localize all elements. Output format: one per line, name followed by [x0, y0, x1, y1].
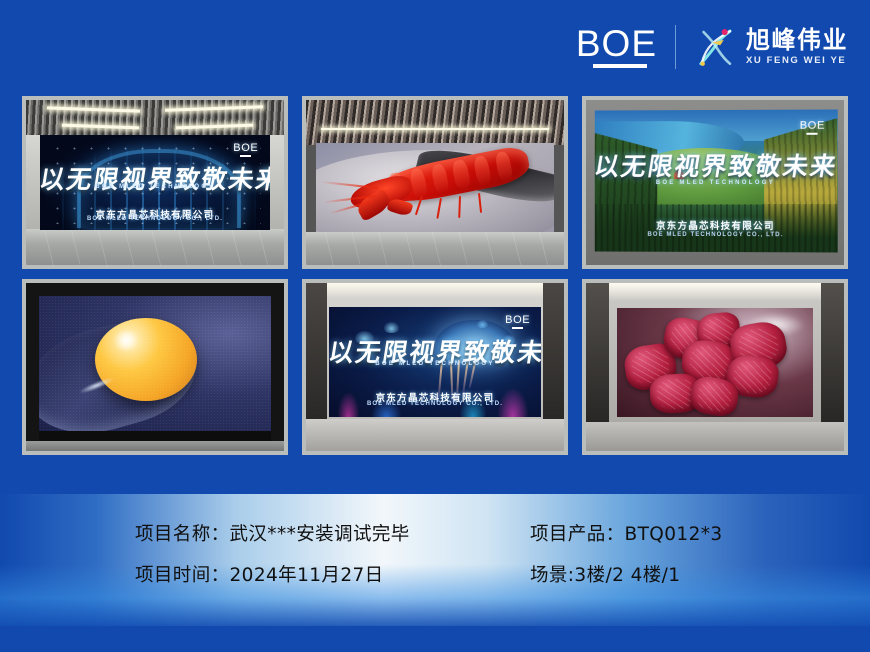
scene-row: 场景:3楼/2 4楼/1: [522, 561, 870, 587]
monitor-bezel: [39, 431, 271, 441]
partner-name-cn: 旭峰伟业: [746, 28, 848, 53]
ceiling-light-strip: [321, 128, 548, 130]
logo-divider: [675, 25, 676, 69]
photo-3-scene: BOE 以无限视界致敬未来 BOE MLED TECHNOLOGY 京东方晶芯科…: [586, 100, 844, 265]
photo-6-meat-led-wall[interactable]: [582, 279, 848, 455]
lobster-leg: [458, 196, 461, 218]
project-product-row: 项目产品：BTQ012*3: [522, 520, 870, 546]
project-name-row: 项目名称：武汉***安装调试完毕: [0, 520, 522, 546]
xufengweiye-mark-icon: [693, 25, 737, 69]
screen-slogan-en: BOE MLED TECHNOLOGY: [40, 184, 270, 190]
spoon-shape: [39, 304, 208, 431]
photo-2-scene: [306, 100, 564, 265]
photo-2-lobster-led-wall[interactable]: [302, 96, 568, 269]
photo-5-jellyfish-led-wall[interactable]: BOE 以无限视界致敬未来 BOE MLED TECHNOLOGY 京东方晶芯科…: [302, 279, 568, 455]
small-jellyfish: [384, 322, 399, 333]
led-screen-1: BOE 以无限视界致敬未来 BOE MLED TECHNOLOGY 京东方晶芯科…: [40, 135, 270, 229]
photo-4-yolk-monitor[interactable]: [22, 279, 288, 455]
room-floor: [306, 419, 564, 451]
poster-canvas: BOE 旭峰伟业 XU FENG WEI YE: [0, 0, 870, 652]
slatted-ceiling: [306, 100, 564, 145]
photo-1-scene: BOE 以无限视界致敬未来 BOE MLED TECHNOLOGY 京东方晶芯科…: [26, 100, 284, 265]
project-info-grid: 项目名称：武汉***安装调试完毕 项目产品：BTQ012*3 项目时间：2024…: [0, 494, 870, 594]
screen-slogan-cn: 以无限视界致敬未来: [40, 160, 270, 196]
led-screen-6: [617, 308, 813, 417]
boe-logo-wordmark: BOE: [576, 26, 657, 62]
photo-1-corridor-led-wall[interactable]: BOE 以无限视界致敬未来 BOE MLED TECHNOLOGY 京东方晶芯科…: [22, 96, 288, 269]
screen-slogan-en: BOE MLED TECHNOLOGY: [329, 361, 541, 367]
right-wall: [269, 135, 284, 234]
photo-5-scene: BOE 以无限视界致敬未来 BOE MLED TECHNOLOGY 京东方晶芯科…: [306, 283, 564, 451]
spoon-shine: [78, 376, 115, 396]
screen-company-cn: 京东方晶芯科技有限公司: [595, 217, 837, 232]
header-logo-bar: BOE 旭峰伟业 XU FENG WEI YE: [576, 18, 848, 76]
ceiling-cove-light: [609, 283, 821, 301]
room-floor: [586, 422, 844, 451]
photo-6-scene: [586, 283, 844, 451]
partner-logo: 旭峰伟业 XU FENG WEI YE: [676, 25, 848, 69]
corridor-floor: [26, 229, 284, 265]
ceiling-cove-light: [327, 283, 544, 298]
screen-boe-logo: BOE: [799, 119, 824, 134]
led-screen-2: [316, 143, 553, 232]
yolk-highlight: [111, 331, 141, 350]
left-wall: [26, 135, 41, 234]
screen-boe-logo: BOE: [505, 314, 530, 329]
photo-4-scene: [26, 283, 284, 451]
led-screen-4: [39, 296, 271, 430]
project-info-band: 项目名称：武汉***安装调试完毕 项目产品：BTQ012*3 项目时间：2024…: [0, 494, 870, 626]
egg-yolk-sphere: [95, 318, 197, 401]
screen-slogan-cn: 以无限视界致敬未来: [595, 147, 837, 183]
partner-name-block: 旭峰伟业 XU FENG WEI YE: [746, 28, 848, 67]
screen-company-en: BOE MLED TECHNOLOGY CO., LTD.: [329, 401, 541, 407]
monitor-base: [26, 441, 284, 451]
corridor-floor: [306, 232, 564, 265]
screen-slogan-en: BOE MLED TECHNOLOGY: [595, 179, 837, 185]
led-screen-3: BOE 以无限视界致敬未来 BOE MLED TECHNOLOGY 京东方晶芯科…: [595, 109, 837, 252]
partner-name-en: XU FENG WEI YE: [746, 55, 848, 66]
screen-company-en: BOE MLED TECHNOLOGY CO., LTD.: [40, 216, 270, 222]
project-time-row: 项目时间：2024年11月27日: [0, 561, 522, 587]
boe-logo: BOE: [576, 26, 675, 69]
led-screen-5: BOE 以无限视界致敬未来 BOE MLED TECHNOLOGY 京东方晶芯科…: [329, 307, 541, 418]
screen-company-en: BOE MLED TECHNOLOGY CO., LTD.: [595, 232, 837, 239]
photo-grid: BOE 以无限视界致敬未来 BOE MLED TECHNOLOGY 京东方晶芯科…: [22, 96, 848, 455]
boe-logo-underline-icon: [593, 64, 647, 68]
screen-boe-logo: BOE: [233, 142, 258, 157]
photo-3-landscape-led-wall[interactable]: BOE 以无限视界致敬未来 BOE MLED TECHNOLOGY 京东方晶芯科…: [582, 96, 848, 269]
